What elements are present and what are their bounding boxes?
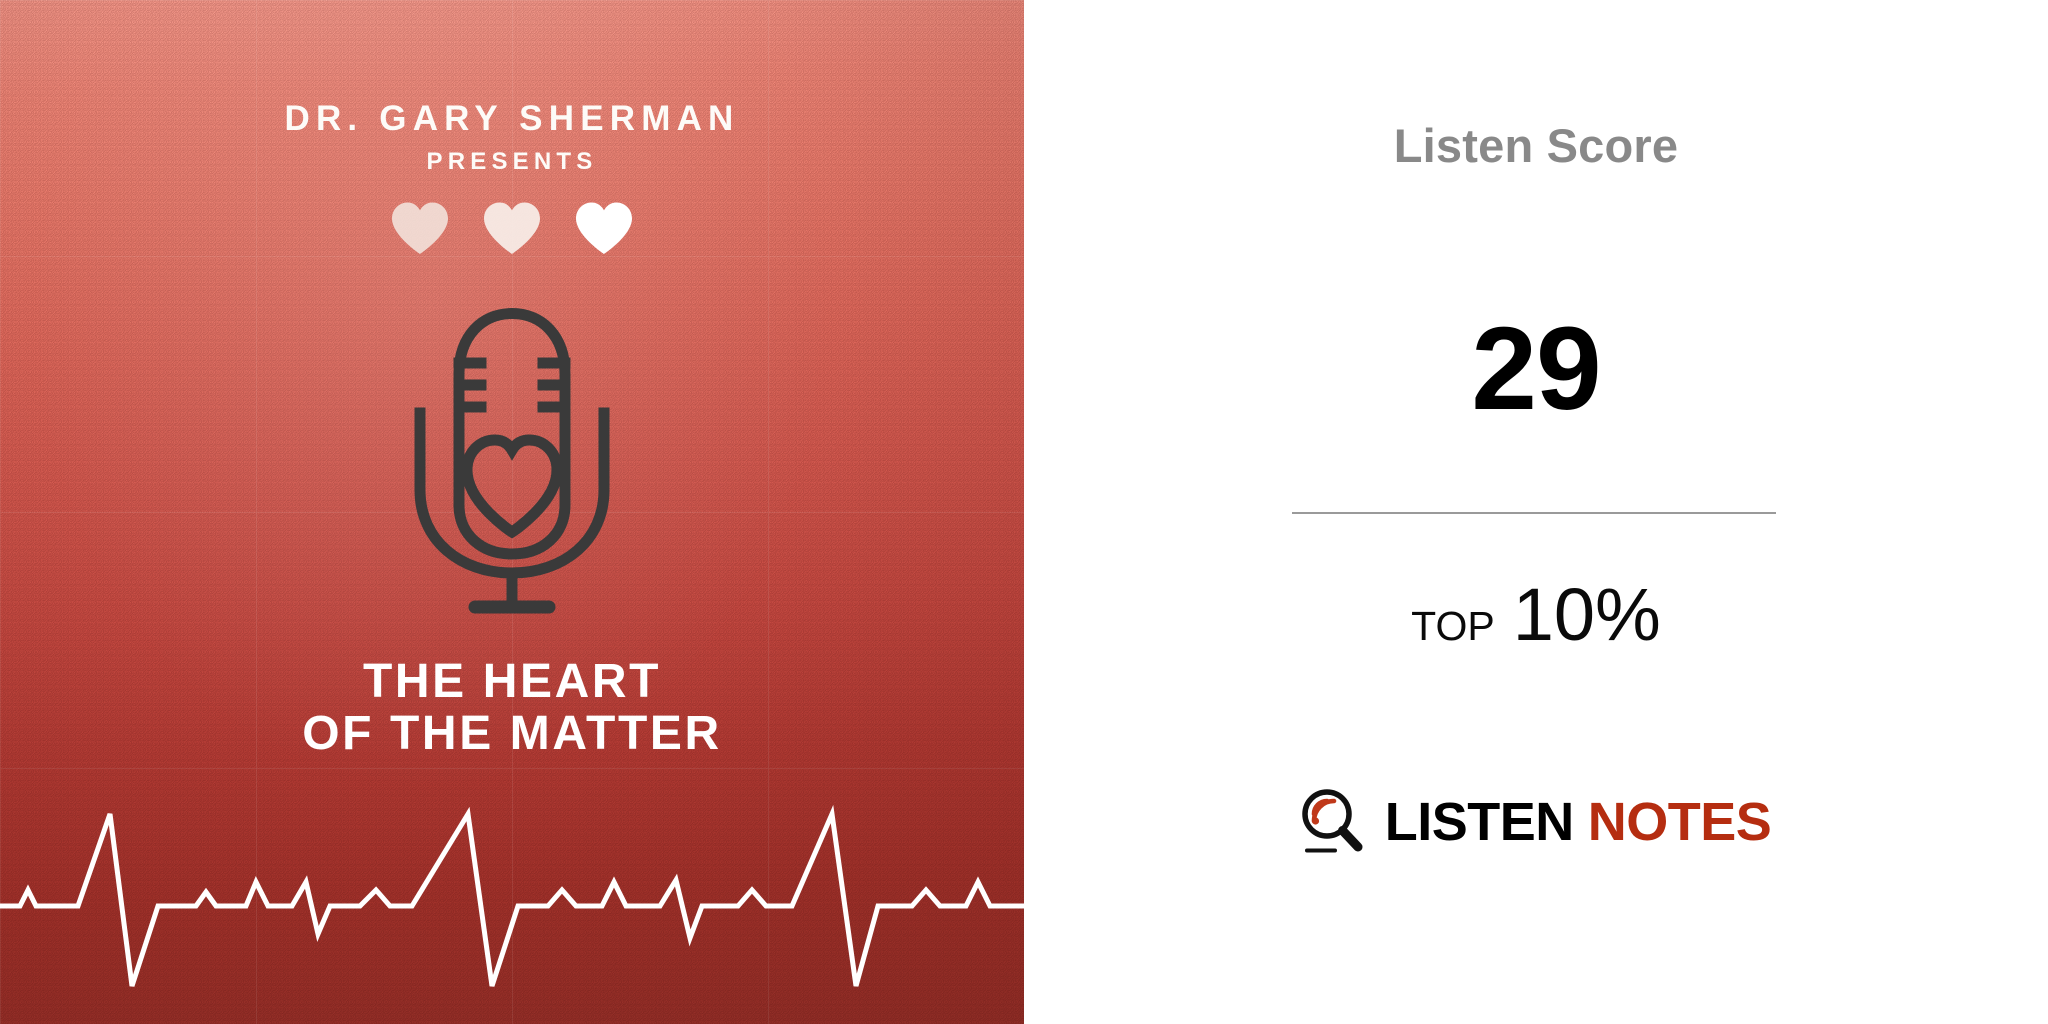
rank-prefix-label: TOP: [1411, 603, 1495, 649]
divider: [1292, 512, 1776, 514]
listen-score-value: 29: [1024, 310, 2048, 428]
microphone-heart-icon-wrap: [0, 300, 1024, 630]
rank-row: TOP10%: [1024, 578, 2048, 652]
ekg-heartbeat-line: [0, 794, 1024, 1024]
brand-word-notes: NOTES: [1588, 792, 1772, 852]
heart-icon: [482, 201, 542, 255]
listen-score-panel: Listen Score 29 TOP10% LI: [1024, 0, 2048, 1024]
rank-percent-value: 10%: [1513, 573, 1661, 656]
presents-label: PRESENTS: [0, 150, 1024, 174]
presenter-name: DR. GARY SHERMAN: [0, 101, 1024, 136]
show-title-line-1: THE HEART: [363, 655, 661, 708]
microphone-heart-icon: [396, 300, 628, 630]
heart-icon: [574, 201, 634, 255]
listen-notes-logo[interactable]: LISTENNOTES: [1024, 788, 2048, 856]
show-title: THE HEART OF THE MATTER: [0, 656, 1024, 760]
heart-icon: [390, 201, 450, 255]
listen-score-card: DR. GARY SHERMAN PRESENTS: [0, 0, 2048, 1024]
listen-notes-magnifier-rss-icon: [1301, 788, 1363, 856]
listen-notes-wordmark: LISTENNOTES: [1385, 795, 1772, 849]
show-title-line-2: OF THE MATTER: [0, 708, 1024, 760]
podcast-cover-art[interactable]: DR. GARY SHERMAN PRESENTS: [0, 0, 1024, 1024]
listen-score-label: Listen Score: [1024, 122, 2048, 169]
hearts-row: [0, 201, 1024, 255]
brand-word-listen: LISTEN: [1385, 792, 1574, 852]
